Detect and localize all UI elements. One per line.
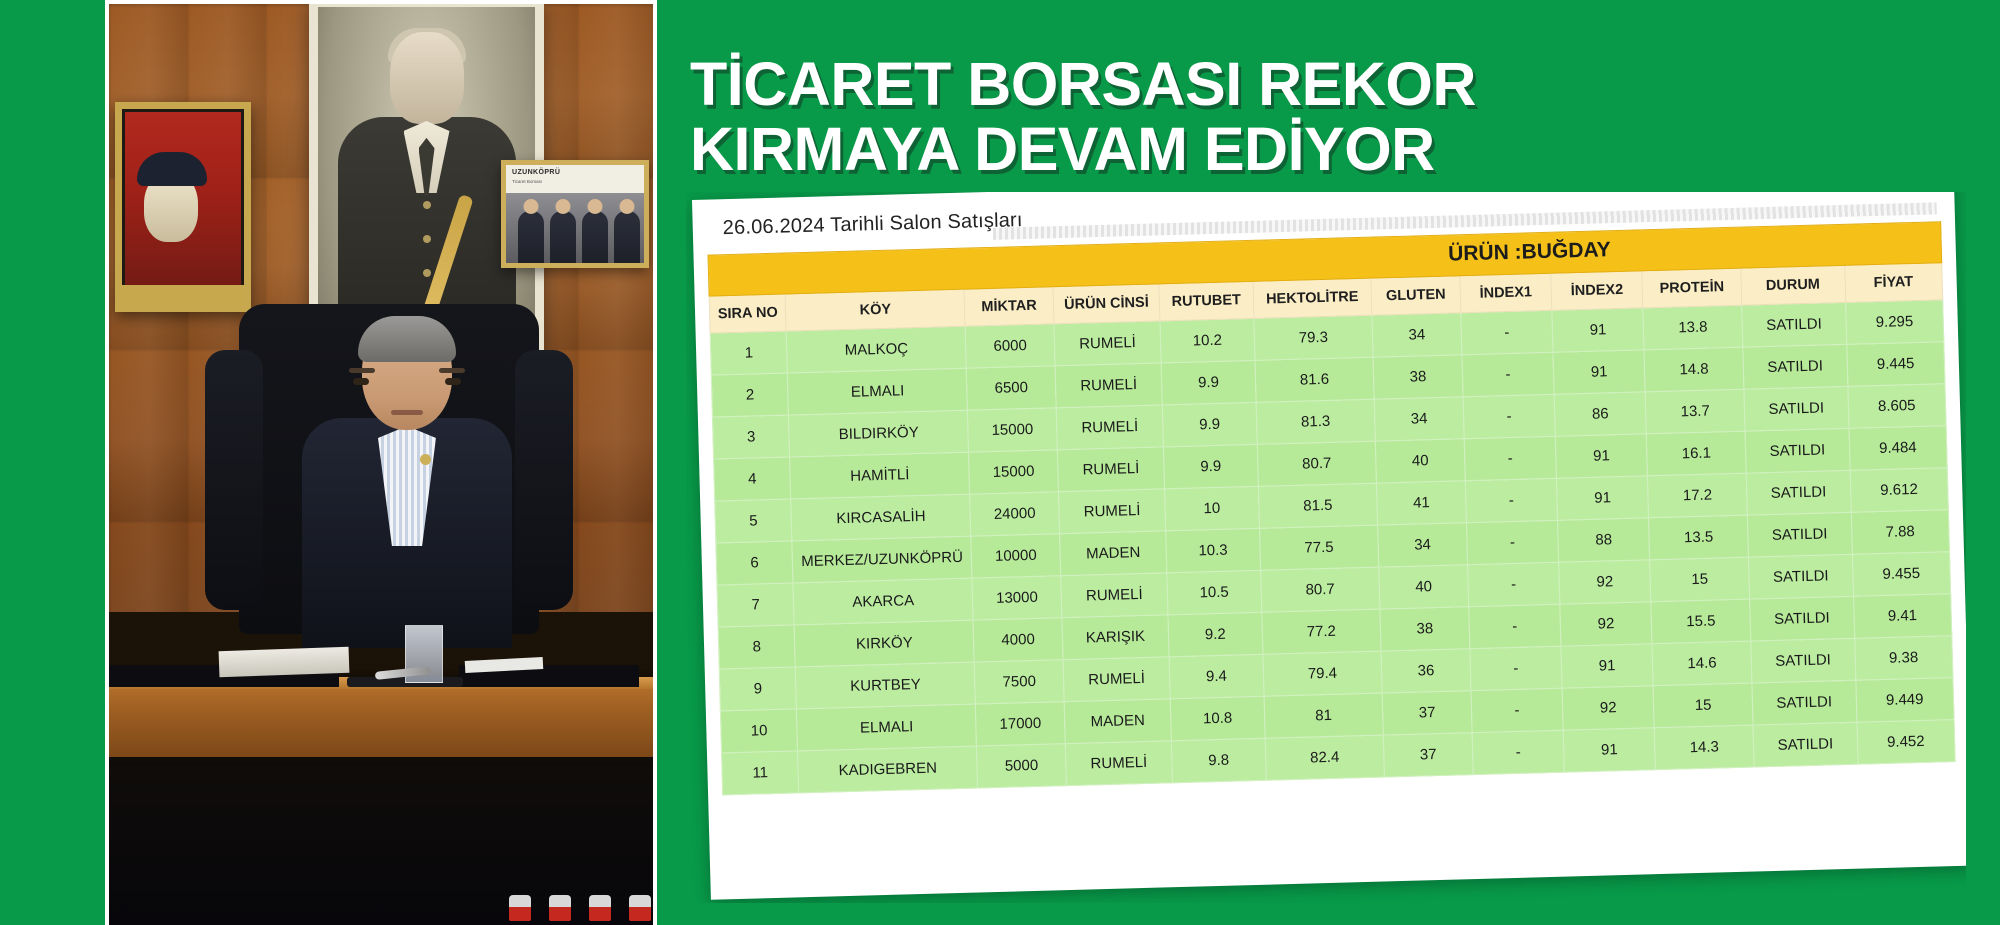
column-header-2: MİKTAR bbox=[964, 287, 1054, 326]
cell-r3-c5: 80.7 bbox=[1257, 441, 1376, 486]
cell-r3-c0: 4 bbox=[714, 457, 792, 501]
cell-r5-c10: SATILDI bbox=[1747, 512, 1852, 557]
column-header-10: DURUM bbox=[1741, 265, 1846, 305]
cell-r7-c3: KARIŞIK bbox=[1062, 615, 1169, 660]
cell-r5-c0: 6 bbox=[716, 541, 794, 585]
cell-r1-c2: 6500 bbox=[966, 366, 1056, 410]
cell-r7-c2: 4000 bbox=[973, 618, 1063, 662]
cell-r6-c9: 15 bbox=[1650, 557, 1750, 602]
cell-r2-c7: - bbox=[1463, 394, 1555, 438]
cell-r6-c11: 9.455 bbox=[1852, 552, 1951, 597]
table-body: 1MALKOÇ6000RUMELİ10.279.334-9113.8SATILD… bbox=[710, 300, 1955, 795]
cell-r1-c11: 9.445 bbox=[1846, 342, 1945, 387]
cell-r1-c8: 91 bbox=[1553, 350, 1645, 394]
cell-r5-c6: 34 bbox=[1378, 523, 1468, 567]
cell-r2-c3: RUMELİ bbox=[1056, 405, 1163, 450]
cell-r3-c1: HAMİTLİ bbox=[790, 452, 970, 499]
cell-r4-c4: 10 bbox=[1165, 486, 1260, 531]
cell-r7-c1: KIRKÖY bbox=[794, 620, 974, 667]
framed-certificate-title: UZUNKÖPRÜ bbox=[512, 169, 560, 176]
cell-r8-c7: - bbox=[1470, 646, 1562, 690]
cell-r9-c1: ELMALI bbox=[797, 704, 977, 751]
cell-r0-c8: 91 bbox=[1552, 308, 1644, 352]
cell-r8-c8: 91 bbox=[1561, 644, 1653, 688]
cell-r0-c7: - bbox=[1461, 310, 1553, 354]
cell-r0-c11: 9.295 bbox=[1845, 300, 1944, 345]
cell-r9-c5: 81 bbox=[1264, 693, 1383, 738]
cell-r8-c11: 9.38 bbox=[1854, 636, 1953, 681]
cell-r4-c11: 9.612 bbox=[1850, 468, 1949, 513]
office-photo-frame: UZUNKÖPRÜ Ticaret Borsası bbox=[105, 0, 657, 925]
cell-r0-c6: 34 bbox=[1372, 313, 1462, 357]
column-header-5: HEKTOLİTRE bbox=[1253, 278, 1372, 318]
cell-r8-c2: 7500 bbox=[974, 660, 1064, 704]
cell-r7-c0: 8 bbox=[718, 625, 796, 669]
cell-r5-c4: 10.3 bbox=[1166, 528, 1261, 573]
cell-r10-c2: 5000 bbox=[977, 744, 1067, 788]
cell-r9-c7: - bbox=[1471, 688, 1563, 732]
cell-r1-c1: ELMALI bbox=[788, 368, 968, 415]
sales-sheet-wrapper: 26.06.2024 Tarihli Salon Satışları ÜRÜN … bbox=[686, 192, 1966, 925]
cell-r7-c5: 77.2 bbox=[1262, 609, 1381, 654]
desk bbox=[109, 679, 653, 757]
cell-r5-c3: MADEN bbox=[1060, 531, 1167, 576]
cell-r10-c5: 82.4 bbox=[1265, 735, 1384, 780]
cell-r9-c9: 15 bbox=[1653, 683, 1753, 728]
desk-items bbox=[109, 627, 653, 687]
cell-r9-c10: SATILDI bbox=[1752, 680, 1857, 725]
cell-r9-c6: 37 bbox=[1382, 691, 1472, 735]
cell-r1-c5: 81.6 bbox=[1255, 357, 1374, 402]
cell-r0-c9: 13.8 bbox=[1643, 305, 1743, 350]
sales-sheet: 26.06.2024 Tarihli Salon Satışları ÜRÜN … bbox=[692, 192, 1966, 900]
cell-r2-c4: 9.9 bbox=[1162, 402, 1257, 447]
cell-r7-c11: 9.41 bbox=[1853, 594, 1952, 639]
cell-r9-c8: 92 bbox=[1562, 686, 1654, 730]
cell-r10-c10: SATILDI bbox=[1753, 722, 1858, 767]
cell-r0-c0: 1 bbox=[710, 331, 788, 375]
cell-r7-c6: 38 bbox=[1380, 607, 1470, 651]
cell-r9-c2: 17000 bbox=[975, 702, 1065, 746]
cell-r4-c7: - bbox=[1465, 478, 1557, 522]
cell-r3-c7: - bbox=[1464, 436, 1556, 480]
cell-r8-c6: 36 bbox=[1381, 649, 1471, 693]
cell-r10-c0: 11 bbox=[721, 751, 799, 795]
office-photo: UZUNKÖPRÜ Ticaret Borsası bbox=[109, 4, 653, 925]
cell-r6-c4: 10.5 bbox=[1167, 570, 1262, 615]
cell-r4-c6: 41 bbox=[1376, 481, 1466, 525]
cell-r2-c0: 3 bbox=[712, 415, 790, 459]
column-header-6: GLUTEN bbox=[1371, 276, 1461, 315]
column-header-9: PROTEİN bbox=[1642, 268, 1742, 308]
cell-r0-c2: 6000 bbox=[965, 324, 1055, 368]
cell-r6-c3: RUMELİ bbox=[1061, 573, 1168, 618]
cell-r8-c0: 9 bbox=[719, 667, 797, 711]
cell-r2-c10: SATILDI bbox=[1744, 386, 1849, 431]
cell-r10-c11: 9.452 bbox=[1857, 720, 1956, 765]
cell-r9-c11: 9.449 bbox=[1855, 678, 1954, 723]
cell-r7-c9: 15.5 bbox=[1651, 599, 1751, 644]
column-header-3: ÜRÜN CİNSİ bbox=[1053, 284, 1160, 324]
cell-r4-c1: KIRCASALİH bbox=[791, 494, 971, 541]
cell-r1-c3: RUMELİ bbox=[1055, 363, 1162, 408]
cell-r3-c6: 40 bbox=[1375, 439, 1465, 483]
cell-r2-c8: 86 bbox=[1554, 392, 1646, 436]
cell-r3-c10: SATILDI bbox=[1745, 428, 1850, 473]
cell-r2-c5: 81.3 bbox=[1256, 399, 1375, 444]
cell-r10-c3: RUMELİ bbox=[1065, 741, 1172, 786]
desk-flags bbox=[509, 893, 653, 921]
cell-r8-c4: 9.4 bbox=[1169, 654, 1264, 699]
cell-r3-c2: 15000 bbox=[969, 450, 1059, 494]
cell-r8-c1: KURTBEY bbox=[796, 662, 976, 709]
cell-r10-c9: 14.3 bbox=[1654, 725, 1754, 770]
cell-r9-c4: 10.8 bbox=[1170, 696, 1265, 741]
cell-r5-c9: 13.5 bbox=[1649, 515, 1749, 560]
cell-r7-c4: 9.2 bbox=[1168, 612, 1263, 657]
cell-r5-c5: 77.5 bbox=[1259, 525, 1378, 570]
cell-r8-c9: 14.6 bbox=[1652, 641, 1752, 686]
column-header-1: KÖY bbox=[786, 289, 966, 331]
cell-r8-c3: RUMELİ bbox=[1063, 657, 1170, 702]
cell-r9-c0: 10 bbox=[720, 709, 798, 753]
cell-r4-c10: SATILDI bbox=[1746, 470, 1851, 515]
cell-r1-c4: 9.9 bbox=[1161, 360, 1256, 405]
cell-r10-c4: 9.8 bbox=[1171, 738, 1266, 783]
headline-line-1: TİCARET BORSASI REKOR bbox=[690, 50, 1476, 118]
cell-r0-c4: 10.2 bbox=[1160, 318, 1255, 363]
cell-r5-c1: MERKEZ/UZUNKÖPRÜ bbox=[792, 536, 972, 583]
cell-r4-c0: 5 bbox=[715, 499, 793, 543]
column-header-4: RUTUBET bbox=[1159, 281, 1254, 321]
cell-r0-c5: 79.3 bbox=[1254, 315, 1373, 360]
cell-r0-c10: SATILDI bbox=[1742, 302, 1847, 347]
cell-r3-c9: 16.1 bbox=[1646, 431, 1746, 476]
column-header-7: İNDEX1 bbox=[1460, 273, 1552, 312]
person-figure bbox=[323, 322, 491, 642]
framed-certificate-subtitle: Ticaret Borsası bbox=[512, 179, 542, 184]
framed-certificate-photo: UZUNKÖPRÜ Ticaret Borsası bbox=[501, 160, 649, 268]
salon-sales-table: ÜRÜN :BUĞDAY SIRA NOKÖYMİKTARÜRÜN CİNSİR… bbox=[707, 221, 1955, 795]
cell-r2-c2: 15000 bbox=[968, 408, 1058, 452]
left-green-margin bbox=[0, 0, 105, 925]
cell-r0-c3: RUMELİ bbox=[1054, 321, 1161, 366]
cell-r3-c4: 9.9 bbox=[1163, 444, 1258, 489]
cell-r1-c0: 2 bbox=[711, 373, 789, 417]
cell-r4-c9: 17.2 bbox=[1648, 473, 1748, 518]
cell-r1-c7: - bbox=[1462, 352, 1554, 396]
cell-r10-c8: 91 bbox=[1563, 728, 1655, 772]
cell-r2-c11: 8.605 bbox=[1847, 384, 1946, 429]
cell-r5-c11: 7.88 bbox=[1851, 510, 1950, 555]
cell-r5-c2: 10000 bbox=[971, 534, 1061, 578]
cell-r7-c10: SATILDI bbox=[1750, 596, 1855, 641]
cell-r6-c6: 40 bbox=[1379, 565, 1469, 609]
cell-r10-c7: - bbox=[1472, 730, 1564, 774]
framed-flag-picture bbox=[115, 102, 251, 312]
cell-r6-c1: AKARCA bbox=[793, 578, 973, 625]
cell-r8-c5: 79.4 bbox=[1263, 651, 1382, 696]
bottom-green-mask bbox=[660, 903, 2000, 925]
cell-r7-c7: - bbox=[1469, 604, 1561, 648]
cell-r10-c1: KADIGEBREN bbox=[798, 746, 978, 793]
poster-canvas: UZUNKÖPRÜ Ticaret Borsası bbox=[0, 0, 2000, 925]
headline: TİCARET BORSASI REKOR KIRMAYA DEVAM EDİY… bbox=[690, 52, 1980, 181]
cell-r2-c9: 13.7 bbox=[1645, 389, 1745, 434]
headline-line-2: KIRMAYA DEVAM EDİYOR bbox=[690, 117, 1980, 182]
cell-r6-c8: 92 bbox=[1559, 560, 1651, 604]
cell-r3-c8: 91 bbox=[1555, 434, 1647, 478]
column-header-8: İNDEX2 bbox=[1551, 271, 1643, 310]
cell-r0-c1: MALKOÇ bbox=[787, 326, 967, 373]
cell-r2-c1: BILDIRKÖY bbox=[789, 410, 969, 457]
cell-r1-c10: SATILDI bbox=[1743, 344, 1848, 389]
column-header-0: SIRA NO bbox=[709, 294, 786, 333]
cell-r8-c10: SATILDI bbox=[1751, 638, 1856, 683]
cell-r6-c5: 80.7 bbox=[1260, 567, 1379, 612]
cell-r9-c3: MADEN bbox=[1064, 699, 1171, 744]
cell-r6-c10: SATILDI bbox=[1748, 554, 1853, 599]
cell-r4-c8: 91 bbox=[1556, 476, 1648, 520]
cell-r1-c6: 38 bbox=[1373, 355, 1463, 399]
cell-r3-c11: 9.484 bbox=[1849, 426, 1948, 471]
cell-r4-c2: 24000 bbox=[970, 492, 1060, 536]
cell-r4-c5: 81.5 bbox=[1258, 483, 1377, 528]
cell-r2-c6: 34 bbox=[1374, 397, 1464, 441]
cell-r10-c6: 37 bbox=[1383, 733, 1473, 777]
cell-r7-c8: 92 bbox=[1560, 602, 1652, 646]
cell-r4-c3: RUMELİ bbox=[1059, 489, 1166, 534]
cell-r1-c9: 14.8 bbox=[1644, 347, 1744, 392]
cell-r5-c7: - bbox=[1466, 520, 1558, 564]
cell-r5-c8: 88 bbox=[1558, 518, 1650, 562]
cell-r6-c2: 13000 bbox=[972, 576, 1062, 620]
cell-r6-c7: - bbox=[1467, 562, 1559, 606]
column-header-11: FİYAT bbox=[1844, 263, 1942, 303]
cell-r3-c3: RUMELİ bbox=[1057, 447, 1164, 492]
cell-r6-c0: 7 bbox=[717, 583, 795, 627]
